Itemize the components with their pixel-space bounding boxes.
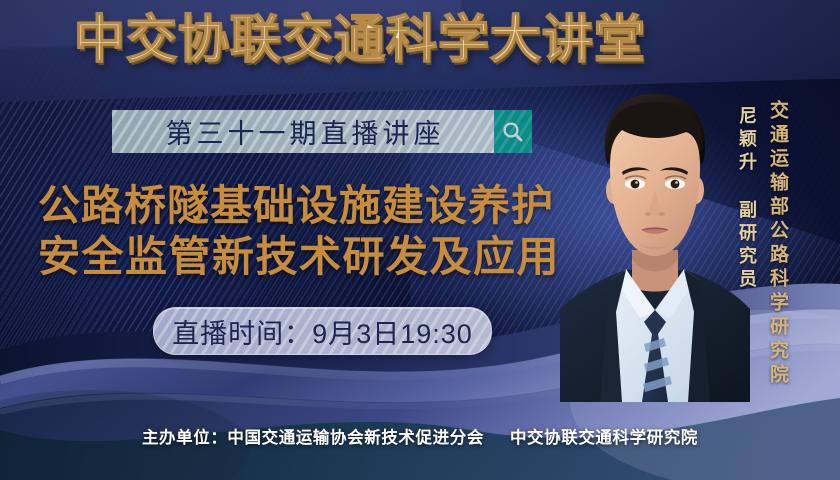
lecture-title-line2: 安全监管新技术研发及应用 xyxy=(38,231,598,282)
search-icon[interactable] xyxy=(494,110,532,153)
footer-organizer-primary: 主办单位：中国交通运输协会新技术促进分会 xyxy=(142,429,484,447)
broadcast-time-text: 直播时间：9月3日19:30 xyxy=(172,312,473,351)
episode-label: 第三十一期直播讲座 xyxy=(162,112,445,151)
lecture-title: 公路桥隧基础设施建设养护 安全监管新技术研发及应用 xyxy=(38,180,598,282)
speaker-institute: 交通运输部公路科学研究院 xyxy=(764,100,791,388)
header-title-text: 中交协联交通科学大讲堂 xyxy=(74,11,646,68)
episode-bar-body: 第三十一期直播讲座 xyxy=(112,110,494,153)
footer-organizers: 主办单位：中国交通运输协会新技术促进分会中交协联交通科学研究院 xyxy=(0,424,840,448)
speaker-name-title: 尼颖升 副研究员 xyxy=(734,106,760,292)
footer-organizer-secondary: 中交协联交通科学研究院 xyxy=(510,429,698,447)
broadcast-time-pill: 直播时间：9月3日19:30 xyxy=(153,307,492,355)
live-stream-poster: 中交协联交通科学大讲堂 第三十一期直播讲座 公路桥隧基础设施建设养护 安全监管新… xyxy=(0,0,840,480)
poster-header-title: 中交协联交通科学大讲堂 xyxy=(0,14,720,65)
episode-bar: 第三十一期直播讲座 xyxy=(112,110,532,153)
lecture-title-line1: 公路桥隧基础设施建设养护 xyxy=(38,180,598,231)
